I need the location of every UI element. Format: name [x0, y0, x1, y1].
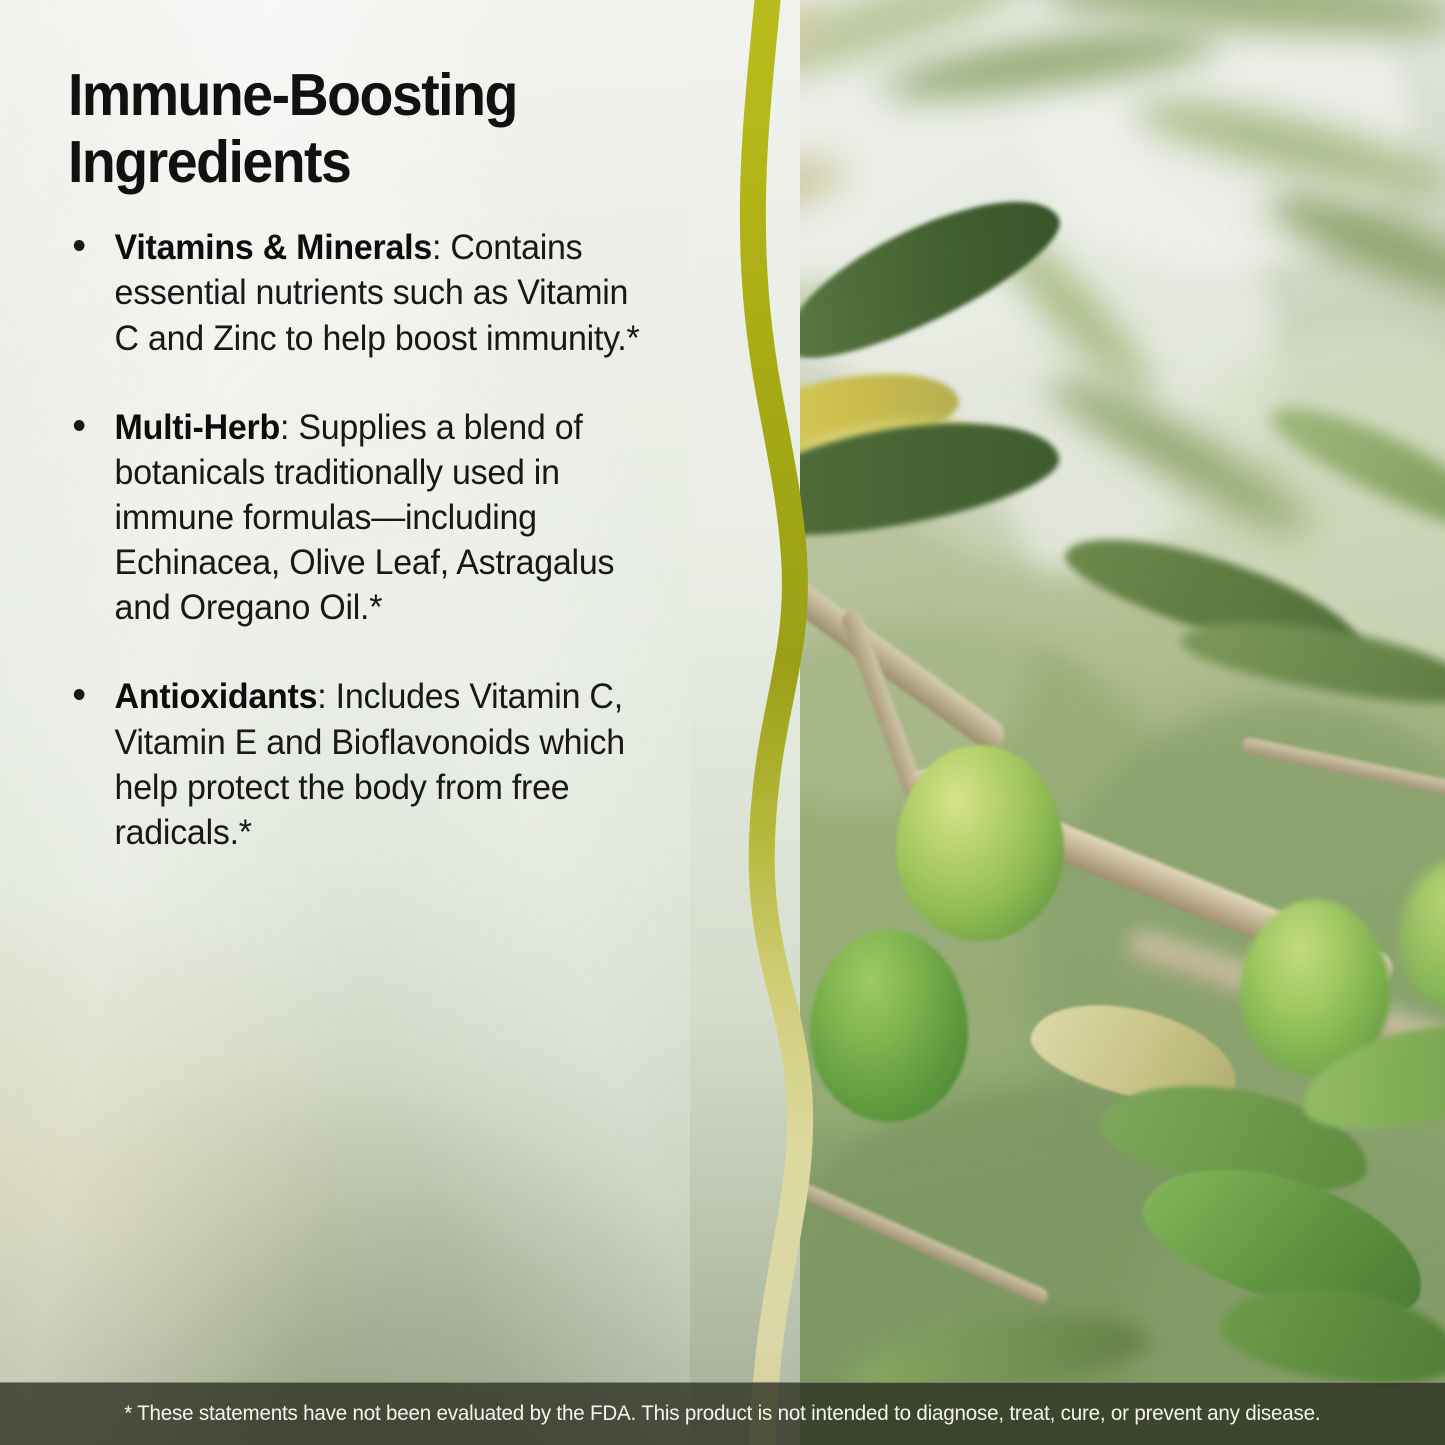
product-info-panel: Immune-BoostingIngredients Vitamins & Mi…: [0, 0, 1445, 1445]
list-item: Antioxidants: Includes Vitamin C, Vitami…: [68, 674, 660, 855]
page-title: Immune-BoostingIngredients: [68, 62, 641, 195]
fda-disclaimer-text: * These statements have not been evaluat…: [124, 1402, 1320, 1426]
page-title-line-1: Immune-Boosting: [68, 62, 517, 128]
bullet-dot-icon: [74, 689, 85, 700]
bullet-dot-icon: [74, 240, 85, 251]
page-title-line-2: Ingredients: [68, 129, 350, 195]
bullet-separator: :: [432, 228, 450, 267]
bullet-lead-label: Antioxidants: [115, 677, 318, 716]
bullet-lead-label: Multi-Herb: [115, 408, 280, 447]
ingredient-bullet-list: Vitamins & Minerals: Contains essential …: [68, 225, 678, 855]
bullet-lead-label: Vitamins & Minerals: [115, 228, 432, 267]
list-item: Multi-Herb: Supplies a blend of botanica…: [68, 405, 660, 631]
fda-disclaimer-bar: * These statements have not been evaluat…: [0, 1382, 1445, 1445]
bullet-separator: :: [317, 677, 335, 716]
list-item: Vitamins & Minerals: Contains essential …: [68, 225, 660, 360]
bullet-separator: :: [280, 408, 298, 447]
olive-branch-photo: [700, 0, 1445, 1445]
ingredients-content: Immune-BoostingIngredients Vitamins & Mi…: [68, 62, 678, 855]
bullet-dot-icon: [74, 420, 85, 431]
photo-leaves-foreground: [700, 0, 1445, 1445]
